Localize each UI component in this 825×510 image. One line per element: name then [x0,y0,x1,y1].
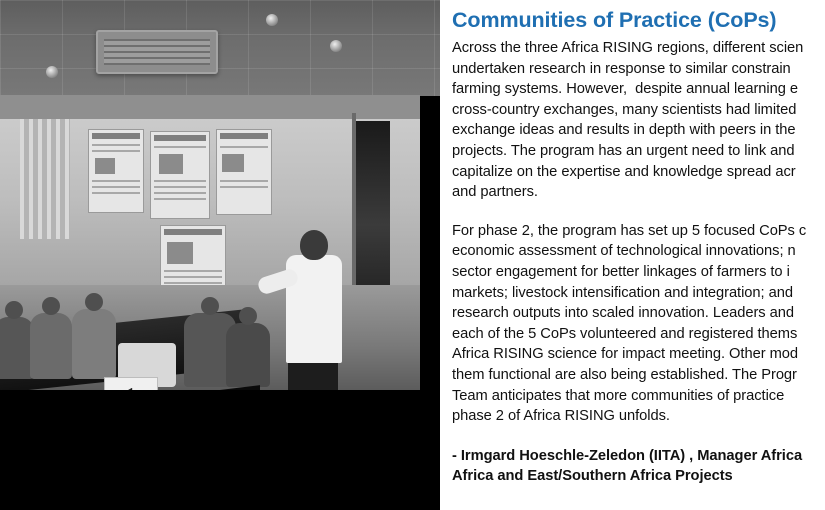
wall-poster [88,129,144,213]
body-paragraph-2: For phase 2, the program has set up 5 fo… [452,221,825,427]
seated-audience-person [226,323,270,387]
air-conditioner-vent-icon [96,30,218,74]
section-title: Communities of Practice(CoPs) [452,8,825,33]
ceiling-area [0,0,440,96]
ceiling-spotlight-icon [46,66,58,78]
meeting-photograph: 1 [0,95,420,390]
ceiling-spotlight-icon [266,14,278,26]
wall-poster [216,129,272,215]
ceiling-tile-grid [0,0,440,96]
slide-page: 1 Communities of Practice(CoPs) Across t… [0,0,825,510]
seated-audience-person [0,317,34,379]
speaker-head [300,230,328,260]
section-title-abbreviation: (CoPs) [708,8,777,32]
seated-audience-person [72,309,116,379]
section-title-main: Communities of Practice [452,8,702,32]
attribution-line: - Irmgard Hoeschle-Zeledon (IITA) , Mana… [452,446,825,487]
body-paragraph-1: Across the three Africa RISING regions, … [452,38,825,203]
seated-audience-person [30,313,72,379]
photo-panel: 1 [0,0,440,510]
ceiling-spotlight-icon [330,40,342,52]
window-curtain [20,119,70,239]
wall-poster [150,131,210,219]
wall-upper-band [0,95,420,119]
text-panel: Communities of Practice(CoPs) Across the… [440,0,825,510]
table-number-placard: 1 [104,377,158,390]
